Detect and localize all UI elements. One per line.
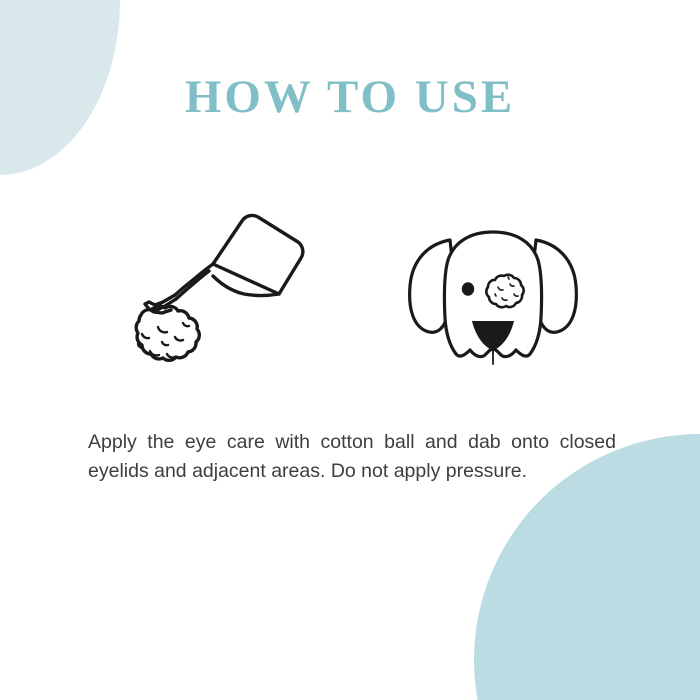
bottle-body [213,215,303,294]
illustration-row [0,196,700,396]
dropper-bottle-illustration [105,196,325,381]
dog-face-illustration [398,214,588,389]
instruction-paragraph: Apply the eye care with cotton ball and … [88,428,616,486]
cotton-ball [136,306,199,360]
instruction-text: Apply the eye care with cotton ball and … [88,431,616,482]
how-to-use-card: HOW TO USE [0,0,700,700]
cotton-ball-on-dog [486,275,523,308]
page-title: HOW TO USE [0,72,700,123]
dog-eye-left [462,282,474,296]
